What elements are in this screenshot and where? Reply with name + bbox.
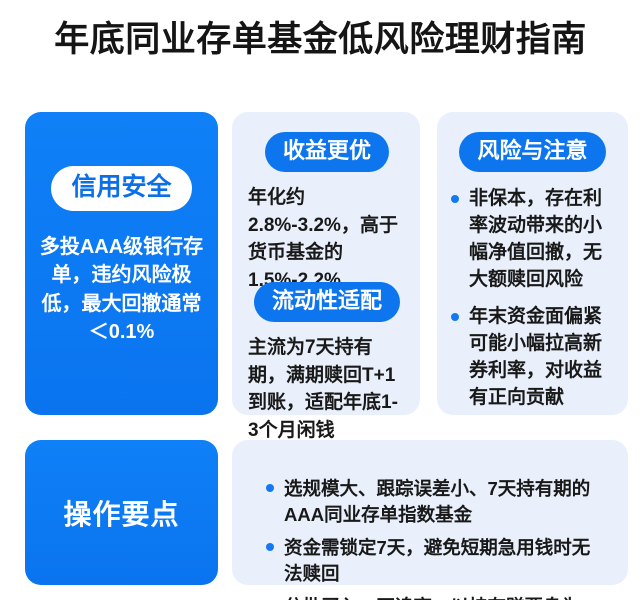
action-bullet-list: 选规模大、跟踪误差小、7天持有期的AAA同业存单指数基金 资金需锁定7天，避免短… bbox=[248, 458, 612, 600]
list-item: 选规模大、跟踪误差小、7天持有期的AAA同业存单指数基金 bbox=[264, 476, 596, 528]
risk-bullet-list: 非保本，存在利率波动带来的小幅净值回撤，无大额赎回风险 年末资金面偏紧可能小幅拉… bbox=[437, 186, 628, 412]
list-item: 年末资金面偏紧可能小幅拉高新券利率，对收益有正向贡献 bbox=[449, 304, 618, 412]
list-item: 资金需锁定7天，避免短期急用钱时无法赎回 bbox=[264, 535, 596, 587]
badge-liquidity-wrap: 流动性适配 bbox=[246, 282, 408, 322]
badge-risk-notes: 风险与注意 bbox=[459, 132, 605, 172]
section-liquidity-body: 主流为7天持有期，满期赎回T+1到账，适配年底1-3个月闲钱 bbox=[246, 334, 408, 445]
badge-liquidity: 流动性适配 bbox=[254, 282, 400, 322]
card-risk-notes: 风险与注意 非保本，存在利率波动带来的小幅净值回撤，无大额赎回风险 年末资金面偏… bbox=[437, 112, 628, 415]
card-credit-safety-body: 多投AAA级银行存单，违约风险极低，最大回撤通常＜0.1% bbox=[33, 233, 210, 347]
badge-credit-safety: 信用安全 bbox=[51, 166, 191, 211]
badge-income: 收益更优 bbox=[265, 132, 389, 172]
risk-bullet-text: 非保本，存在利率波动带来的小幅净值回撤，无大额赎回风险 bbox=[469, 188, 602, 290]
card-credit-safety-badge-wrap: 信用安全 bbox=[33, 166, 210, 211]
list-item: 非保本，存在利率波动带来的小幅净值回撤，无大额赎回风险 bbox=[449, 186, 618, 294]
risk-bullet-text: 年末资金面偏紧可能小幅拉高新券利率，对收益有正向贡献 bbox=[469, 306, 602, 408]
action-bullet-text: 资金需锁定7天，避免短期急用钱时无法赎回 bbox=[284, 537, 590, 584]
card-action-points-label: 操作要点 bbox=[25, 493, 218, 533]
action-bullet-text: 分批买入，不追高，以持有赚票息为主 bbox=[284, 596, 580, 600]
list-item: 分批买入，不追高，以持有赚票息为主 bbox=[264, 594, 596, 600]
action-bullets-wrap: 选规模大、跟踪误差小、7天持有期的AAA同业存单指数基金 资金需锁定7天，避免短… bbox=[232, 440, 628, 600]
card-action-points: 操作要点 bbox=[25, 440, 218, 585]
card-credit-safety: 信用安全 多投AAA级银行存单，违约风险极低，最大回撤通常＜0.1% bbox=[25, 112, 218, 415]
card-income-liquidity: 收益更优 年化约2.8%-3.2%，高于货币基金的1.5%-2.2% 流动性适配… bbox=[232, 112, 420, 415]
badge-income-wrap: 收益更优 bbox=[246, 132, 408, 172]
card-action-points-list: 选规模大、跟踪误差小、7天持有期的AAA同业存单指数基金 资金需锁定7天，避免短… bbox=[232, 440, 628, 585]
section-liquidity: 流动性适配 主流为7天持有期，满期赎回T+1到账，适配年底1-3个月闲钱 bbox=[246, 282, 408, 445]
page-title: 年底同业存单基金低风险理财指南 bbox=[0, 18, 641, 62]
section-income-body: 年化约2.8%-3.2%，高于货币基金的1.5%-2.2% bbox=[246, 184, 408, 295]
card-credit-safety-content: 信用安全 多投AAA级银行存单，违约风险极低，最大回撤通常＜0.1% bbox=[25, 166, 218, 347]
section-income: 收益更优 年化约2.8%-3.2%，高于货币基金的1.5%-2.2% bbox=[246, 132, 408, 295]
badge-risk-wrap: 风险与注意 bbox=[437, 112, 628, 172]
action-bullet-text: 选规模大、跟踪误差小、7天持有期的AAA同业存单指数基金 bbox=[284, 478, 590, 525]
